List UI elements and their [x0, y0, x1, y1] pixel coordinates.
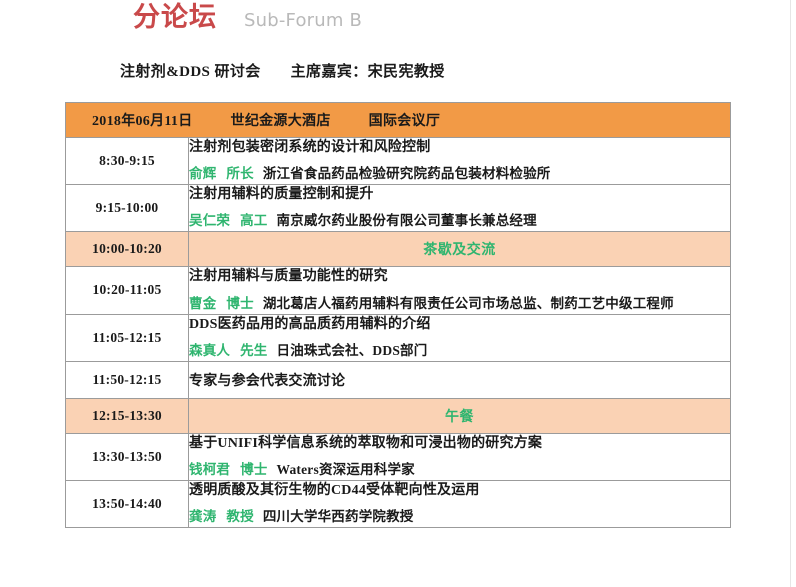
talk-title: 透明质酸及其衍生物的CD44受体靶向性及运用 [189, 481, 730, 501]
talk-speaker: 吴仁荣高工南京威尔药业股份有限公司董事长兼总经理 [189, 212, 730, 231]
row-body: 透明质酸及其衍生物的CD44受体靶向性及运用 龚涛教授四川大学华西药学院教授 [189, 480, 731, 527]
agenda-header-row: 2018年06月11日 世纪金源大酒店 国际会议厅 [66, 103, 731, 138]
forum-title-cn: 分论坛 [133, 4, 217, 31]
row-time: 13:50-14:40 [66, 480, 189, 527]
row-time: 12:15-13:30 [66, 398, 189, 433]
table-row: 11:50-12:15 专家与参会代表交流讨论 [66, 361, 731, 398]
row-time: 13:30-13:50 [66, 433, 189, 480]
subtitle-line: 注射剂&DDS 研讨会 主席嘉宾：宋民宪教授 [120, 60, 445, 81]
row-time: 11:50-12:15 [66, 361, 189, 398]
speaker-name: 俞辉 [189, 166, 216, 181]
row-body: 注射用辅料的质量控制和提升 吴仁荣高工南京威尔药业股份有限公司董事长兼总经理 [189, 185, 731, 232]
row-time: 9:15-10:00 [66, 185, 189, 232]
table-row: 13:30-13:50 基于UNIFI科学信息系统的萃取物和可浸出物的研究方案 … [66, 433, 731, 480]
agenda-table: 2018年06月11日 世纪金源大酒店 国际会议厅 8:30-9:15 注射剂包… [65, 102, 731, 528]
row-time: 11:05-12:15 [66, 314, 189, 361]
subtitle-chair: 主席嘉宾：宋民宪教授 [291, 60, 445, 81]
table-row-break: 12:15-13:30 午餐 [66, 398, 731, 433]
speaker-affiliation: 湖北葛店人福药用辅料有限责任公司市场总监、制药工艺中级工程师 [263, 296, 674, 311]
row-body: 基于UNIFI科学信息系统的萃取物和可浸出物的研究方案 钱柯君博士Waters资… [189, 433, 731, 480]
header-date: 2018年06月11日 [92, 110, 193, 130]
page-edge-rule [790, 0, 791, 587]
talk-title: 注射用辅料与质量功能性的研究 [189, 267, 730, 287]
speaker-title: 博士 [240, 462, 267, 477]
row-body: 专家与参会代表交流讨论 [189, 361, 731, 398]
row-body: DDS医药品用的高品质药用辅料的介绍 森真人先生日油珠式会社、DDS部门 [189, 314, 731, 361]
talk-speaker: 钱柯君博士Waters资深运用科学家 [189, 461, 730, 480]
talk-speaker: 曹金博士湖北葛店人福药用辅料有限责任公司市场总监、制药工艺中级工程师 [189, 295, 730, 314]
speaker-title: 博士 [226, 296, 253, 311]
talk-speaker: 俞辉所长浙江省食品药品检验研究院药品包装材料检验所 [189, 165, 730, 184]
row-time: 10:20-11:05 [66, 267, 189, 314]
table-row: 10:20-11:05 注射用辅料与质量功能性的研究 曹金博士湖北葛店人福药用辅… [66, 267, 731, 314]
masthead: 分论坛 Sub-Forum B [133, 4, 362, 31]
talk-title: 注射用辅料的质量控制和提升 [189, 185, 730, 205]
agenda-header-cell: 2018年06月11日 世纪金源大酒店 国际会议厅 [66, 103, 731, 138]
speaker-name: 森真人 [189, 343, 230, 358]
header-venue: 世纪金源大酒店 [231, 110, 331, 130]
speaker-affiliation: 南京威尔药业股份有限公司董事长兼总经理 [277, 213, 537, 228]
row-time: 8:30-9:15 [66, 138, 189, 185]
break-label: 午餐 [189, 398, 731, 433]
table-row: 11:05-12:15 DDS医药品用的高品质药用辅料的介绍 森真人先生日油珠式… [66, 314, 731, 361]
speaker-name: 龚涛 [189, 509, 216, 524]
speaker-affiliation: 浙江省食品药品检验研究院药品包装材料检验所 [263, 166, 551, 181]
talk-title: DDS医药品用的高品质药用辅料的介绍 [189, 315, 730, 335]
talk-speaker: 龚涛教授四川大学华西药学院教授 [189, 508, 730, 527]
row-body: 注射剂包装密闭系统的设计和风险控制 俞辉所长浙江省食品药品检验研究院药品包装材料… [189, 138, 731, 185]
row-body: 注射用辅料与质量功能性的研究 曹金博士湖北葛店人福药用辅料有限责任公司市场总监、… [189, 267, 731, 314]
speaker-affiliation: 日油珠式会社、DDS部门 [277, 343, 428, 358]
speaker-name: 曹金 [189, 296, 216, 311]
table-row: 9:15-10:00 注射用辅料的质量控制和提升 吴仁荣高工南京威尔药业股份有限… [66, 185, 731, 232]
table-row-break: 10:00-10:20 茶歇及交流 [66, 232, 731, 267]
table-row: 8:30-9:15 注射剂包装密闭系统的设计和风险控制 俞辉所长浙江省食品药品检… [66, 138, 731, 185]
header-hall: 国际会议厅 [369, 110, 441, 130]
agenda-table-body: 2018年06月11日 世纪金源大酒店 国际会议厅 8:30-9:15 注射剂包… [66, 103, 731, 528]
speaker-title: 教授 [226, 509, 253, 524]
talk-speaker: 森真人先生日油珠式会社、DDS部门 [189, 342, 730, 361]
break-label: 茶歇及交流 [189, 232, 731, 267]
table-row: 13:50-14:40 透明质酸及其衍生物的CD44受体靶向性及运用 龚涛教授四… [66, 480, 731, 527]
subtitle-topic: 注射剂&DDS 研讨会 [120, 60, 261, 81]
speaker-title: 所长 [226, 166, 253, 181]
speaker-affiliation: 四川大学华西药学院教授 [263, 509, 414, 524]
forum-title-en: Sub-Forum B [244, 12, 362, 30]
row-time: 10:00-10:20 [66, 232, 189, 267]
talk-title: 注射剂包装密闭系统的设计和风险控制 [189, 138, 730, 158]
speaker-affiliation: Waters资深运用科学家 [277, 462, 415, 477]
speaker-name: 钱柯君 [189, 462, 230, 477]
talk-title: 基于UNIFI科学信息系统的萃取物和可浸出物的研究方案 [189, 434, 730, 454]
speaker-title: 先生 [240, 343, 267, 358]
speaker-title: 高工 [240, 213, 267, 228]
speaker-name: 吴仁荣 [189, 213, 230, 228]
